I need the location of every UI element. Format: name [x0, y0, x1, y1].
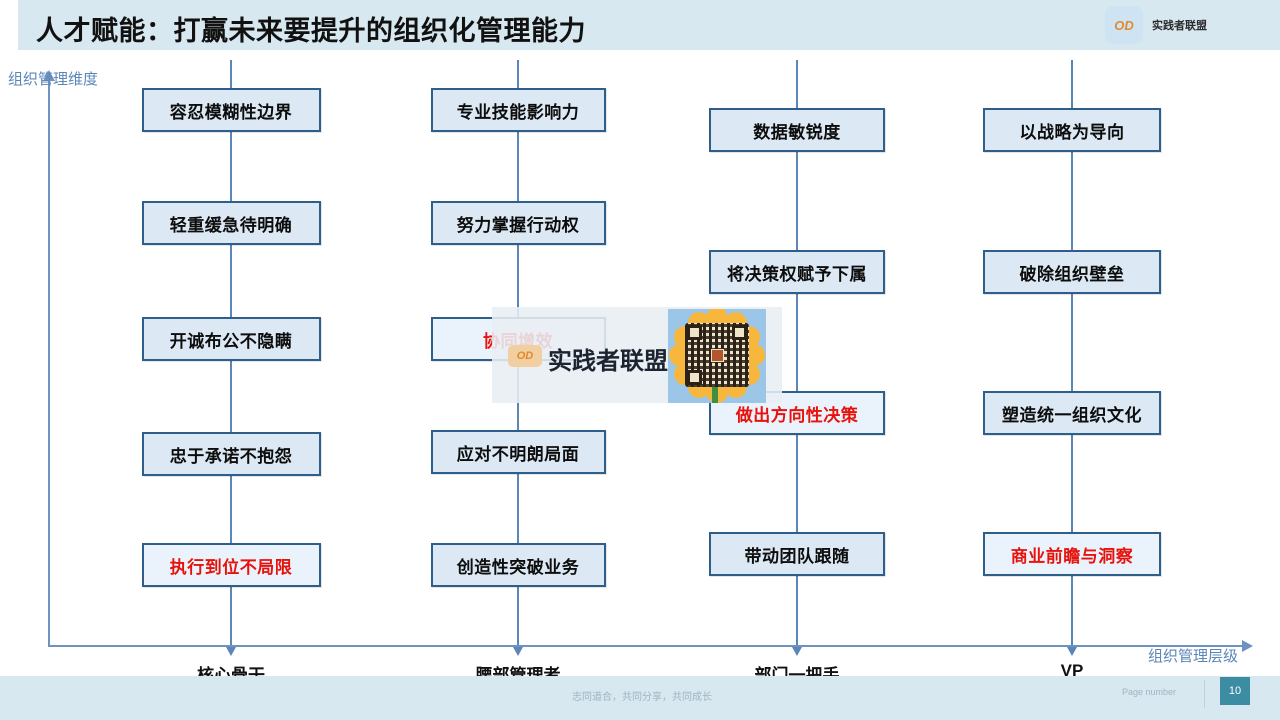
qr-matrix	[685, 323, 749, 387]
capability-node[interactable]: 轻重缓急待明确	[142, 201, 321, 245]
footer-tagline: 志同道合，共同分享，共同成长	[572, 688, 712, 703]
capability-node[interactable]: 带动团队跟随	[709, 532, 885, 576]
capability-node[interactable]: 执行到位不局限	[142, 543, 321, 587]
column-arrow-icon	[513, 647, 523, 656]
qr-code-icon	[668, 309, 766, 403]
x-axis-arrow-icon	[1242, 640, 1253, 652]
column-arrow-icon	[226, 647, 236, 656]
y-axis-line	[48, 78, 50, 646]
capability-node[interactable]: 塑造统一组织文化	[983, 391, 1161, 435]
capability-node[interactable]: 以战略为导向	[983, 108, 1161, 152]
page-number-badge: 10	[1220, 677, 1250, 705]
y-axis-label: 组织管理维度	[8, 68, 98, 89]
capability-node[interactable]: 商业前瞻与洞察	[983, 532, 1161, 576]
footer-page-label: Page number	[1122, 687, 1176, 697]
footer-divider	[1204, 680, 1205, 708]
capability-node[interactable]: 应对不明朗局面	[431, 430, 606, 474]
column-arrow-icon	[792, 647, 802, 656]
x-axis-label: 组织管理层级	[1148, 645, 1238, 666]
slide-canvas: 人才赋能：打赢未来要提升的组织化管理能力 OD 实践者联盟 组织管理维度 组织管…	[0, 0, 1280, 720]
qr-eye-bottom-left	[687, 370, 702, 385]
brand-name: 实践者联盟	[1152, 17, 1207, 33]
watermark-overlay: OD 实践者联盟	[492, 307, 782, 403]
watermark-brand-name: 实践者联盟	[548, 341, 668, 376]
od-logo-icon: OD	[1105, 6, 1143, 44]
capability-node[interactable]: 创造性突破业务	[431, 543, 606, 587]
capability-node[interactable]: 忠于承诺不抱怨	[142, 432, 321, 476]
watermark-od-logo-icon: OD	[508, 345, 542, 367]
capability-node[interactable]: 努力掌握行动权	[431, 201, 606, 245]
qr-eye-top-right	[732, 325, 747, 340]
page-title: 人才赋能：打赢未来要提升的组织化管理能力	[36, 9, 586, 48]
capability-node[interactable]: 数据敏锐度	[709, 108, 885, 152]
qr-eye-top-left	[687, 325, 702, 340]
qr-center-avatar	[711, 349, 724, 362]
capability-node[interactable]: 专业技能影响力	[431, 88, 606, 132]
capability-node[interactable]: 开诚布公不隐瞒	[142, 317, 321, 361]
capability-node[interactable]: 将决策权赋予下属	[709, 250, 885, 294]
capability-node[interactable]: 破除组织壁垒	[983, 250, 1161, 294]
capability-node[interactable]: 容忍模糊性边界	[142, 88, 321, 132]
brand-logo: OD 实践者联盟	[1105, 6, 1207, 44]
column-arrow-icon	[1067, 647, 1077, 656]
